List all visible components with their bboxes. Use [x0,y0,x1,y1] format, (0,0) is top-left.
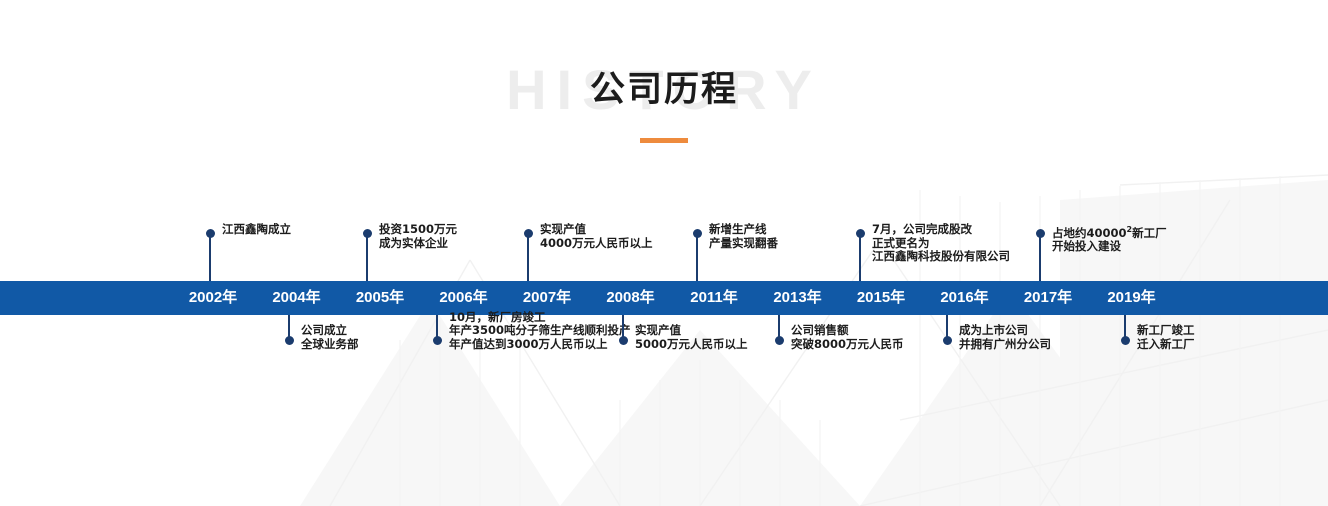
page-title: 公司历程 [0,58,1328,122]
timeline-event-line: 公司成立 [301,324,359,338]
timeline-event-text: 新工厂竣工迁入新工厂 [1137,324,1195,351]
timeline-connector-line [209,233,211,281]
timeline-event-line: 占地约400002新工厂 [1052,223,1167,240]
timeline-event-line: 产量实现翻番 [709,237,778,251]
timeline-event-text: 江西鑫陶成立 [222,223,291,237]
timeline-year-2011[interactable]: 2011年 [690,281,738,315]
timeline-event-line: 5000万元人民币以上 [635,338,748,352]
timeline-event-line: 年产值达到3000万人民币以上 [449,338,631,352]
timeline-year-2016[interactable]: 2016年 [940,281,988,315]
timeline-event-line: 成为实体企业 [379,237,457,251]
timeline-year-2002[interactable]: 2002年 [189,281,237,315]
timeline-event-line: 迁入新工厂 [1137,338,1195,352]
timeline-year-2019[interactable]: 2019年 [1107,281,1155,315]
timeline-event-line: 年产3500吨分子筛生产线顺利投产 [449,324,631,338]
timeline-event-text: 投资1500万元成为实体企业 [379,223,457,250]
timeline-event-line: 4000万元人民币以上 [540,237,653,251]
timeline-event-text: 新增生产线产量实现翻番 [709,223,778,250]
timeline-connector-line [1039,233,1041,281]
title-accent-underline [640,138,688,143]
timeline-connector-line [622,315,624,341]
timeline-event-line: 实现产值 [635,324,748,338]
timeline-connector-line [1124,315,1126,341]
timeline-event-text: 10月，新厂房竣工年产3500吨分子筛生产线顺利投产年产值达到3000万人民币以… [449,311,631,352]
timeline-event-line: 公司销售额 [791,324,904,338]
timeline-year-2005[interactable]: 2005年 [356,281,404,315]
timeline-connector-line [696,233,698,281]
timeline-connector-line [436,315,438,341]
timeline-event-line: 江西鑫陶科技股份有限公司 [872,250,1010,264]
timeline-event-text: 成为上市公司并拥有广州分公司 [959,324,1051,351]
timeline-event-line: 7月，公司完成股改 [872,223,1010,237]
timeline-year-2004[interactable]: 2004年 [272,281,320,315]
timeline-year-2013[interactable]: 2013年 [773,281,821,315]
timeline-event-line: 正式更名为 [872,237,1010,251]
timeline-year-2015[interactable]: 2015年 [857,281,905,315]
timeline-event-line: 10月，新厂房竣工 [449,311,631,325]
timeline-event-line: 全球业务部 [301,338,359,352]
timeline-connector-line [288,315,290,341]
timeline-event-text: 7月，公司完成股改正式更名为江西鑫陶科技股份有限公司 [872,223,1010,264]
timeline-connector-line [859,233,861,281]
timeline-connector-line [527,233,529,281]
timeline-event-line: 江西鑫陶成立 [222,223,291,237]
timeline-event-line: 实现产值 [540,223,653,237]
timeline-event-text: 实现产值5000万元人民币以上 [635,324,748,351]
timeline-event-line: 新增生产线 [709,223,778,237]
timeline-connector-line [946,315,948,341]
timeline-event-text: 占地约400002新工厂开始投入建设 [1052,223,1167,254]
timeline-event-text: 公司成立全球业务部 [301,324,359,351]
timeline-connector-line [366,233,368,281]
timeline-event-text: 实现产值4000万元人民币以上 [540,223,653,250]
timeline-year-2017[interactable]: 2017年 [1024,281,1072,315]
title-block: HISTORY 公司历程 [0,58,1328,122]
timeline-event-line: 投资1500万元 [379,223,457,237]
timeline-event-line: 并拥有广州分公司 [959,338,1051,352]
timeline-connector-line [778,315,780,341]
timeline-event-text: 公司销售额突破8000万元人民币 [791,324,904,351]
timeline-event-line: 新工厂竣工 [1137,324,1195,338]
timeline-event-line: 开始投入建设 [1052,240,1167,254]
timeline-event-line: 突破8000万元人民币 [791,338,904,352]
timeline-event-line: 成为上市公司 [959,324,1051,338]
